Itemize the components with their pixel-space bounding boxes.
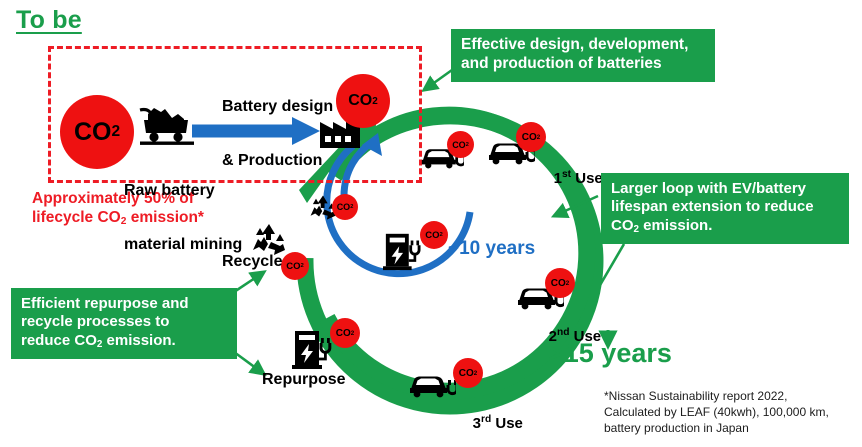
callout-connector-top [424,70,452,90]
co2-bubble-inner-station: CO2 [420,221,448,249]
footnote-line2: Calculated by LEAF (40kwh), 100,000 km, [604,404,829,420]
co2-bubble-inner-car: CO2 [447,131,474,158]
callout-right-line1: Larger loop with EV/battery [611,180,839,198]
footnote-line1: *Nissan Sustainability report 2022, [604,388,829,404]
raw-material-label-line2: material mining [124,236,242,254]
co2-bubble-third-use: CO2 [453,358,483,388]
mining-cart-icon [134,98,200,146]
footnote: *Nissan Sustainability report 2022, Calc… [604,388,829,437]
inner-loop-duration-label: ~10 years [448,238,535,260]
callout-left-line1: Efficient repurpose and [21,295,227,313]
callout-right-line3: CO2 emission. [611,217,839,236]
callout-top-line2: and production of batteries [461,55,705,74]
callout-left-line2: recycle processes to [21,313,227,331]
repurpose-label: Repurpose [262,371,346,389]
production-label-line2: & Production [222,152,333,170]
co2-bubble-inner-recycle: CO2 [332,194,358,220]
callout-left-line3: reduce CO2 emission. [21,332,227,351]
co2-bubble-first-use: CO2 [516,122,546,152]
footnote-line3: battery production in Japan [604,420,829,436]
co2-bubble-repurpose: CO2 [330,318,360,348]
ev-car-icon-third-use [408,371,456,401]
diagram-canvas: To be Approximately 50% of lifecycle CO2… [0,0,862,447]
callout-efficient-repurpose: Efficient repurpose and recycle processe… [11,288,237,359]
outer-loop-duration-label: >15 years [548,338,672,369]
co2-bubble-second-use: CO2 [545,268,575,298]
callout-top-line1: Effective design, development, [461,36,705,55]
callout-larger-loop: Larger loop with EV/battery lifespan ext… [601,173,849,244]
co2-bubble-recycle: CO2 [281,252,309,280]
callout-right-line2: lifespan extension to reduce [611,198,839,216]
page-title: To be [16,6,82,35]
first-use-label: 1st Use [537,152,603,204]
co2-bubble-production: CO2 [336,74,390,128]
recycle-label: Recycle [222,253,283,271]
callout-effective-design: Effective design, development, and produ… [451,29,715,82]
co2-bubble-raw-material: CO2 [60,95,134,169]
third-use-label: 3rd Use [456,397,523,447]
